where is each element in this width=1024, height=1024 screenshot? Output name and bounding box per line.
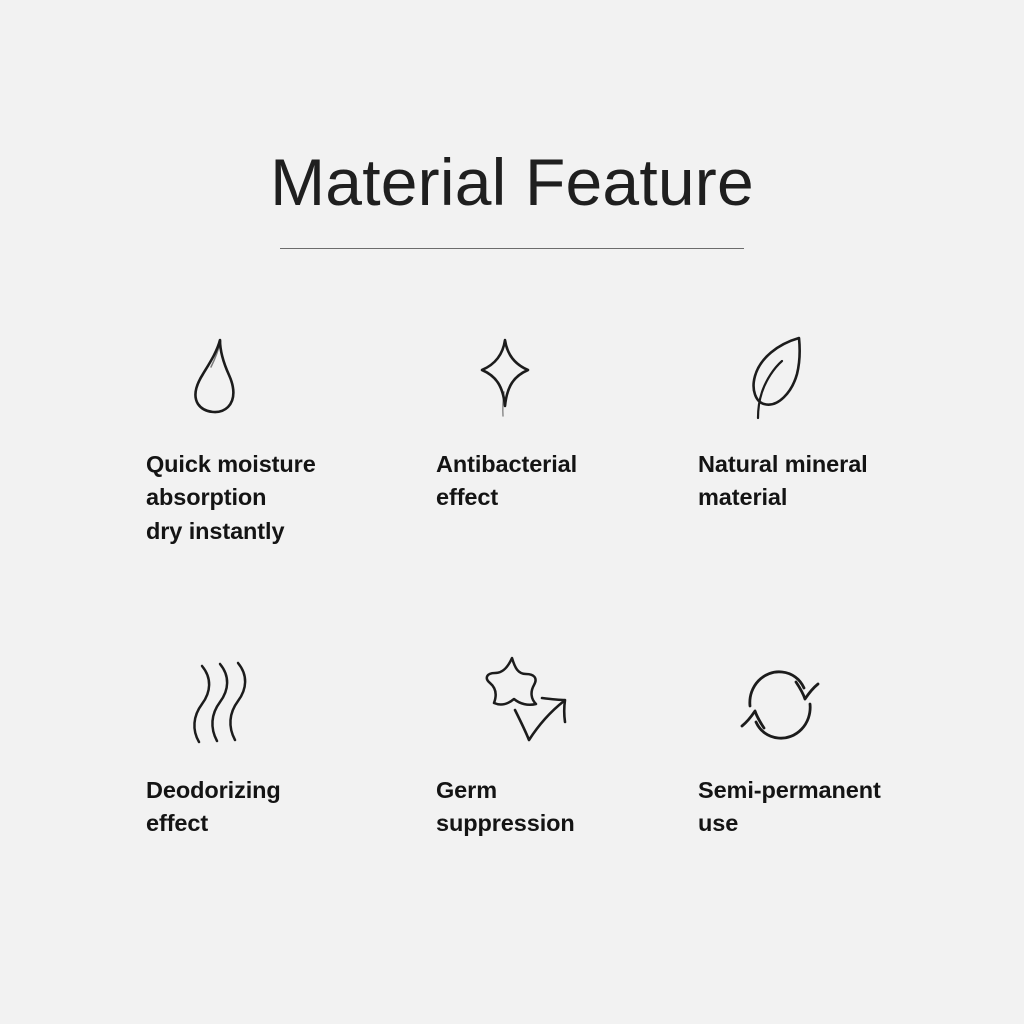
feature-label: Deodorizing effect xyxy=(146,774,436,841)
recycle-circular-arrows-icon xyxy=(698,650,954,750)
material-feature-poster: Material Feature Quick moisture absorpti… xyxy=(0,0,1024,1024)
feature-label: Natural mineral material xyxy=(698,448,954,515)
odor-waves-icon xyxy=(146,650,436,750)
feature-label: Quick moisture absorption dry instantly xyxy=(146,448,436,548)
feature-item-natural-mineral-material: Natural mineral material xyxy=(698,330,954,650)
feature-item-semi-permanent-use: Semi-permanent use xyxy=(698,650,954,841)
feature-label: Antibacterial effect xyxy=(436,448,698,515)
feature-item-antibacterial-effect: Antibacterial effect xyxy=(436,330,698,650)
water-droplet-icon xyxy=(146,330,436,422)
feature-item-germ-suppression: Germ suppression xyxy=(436,650,698,841)
page-title: Material Feature xyxy=(0,148,1024,218)
feature-label: Semi-permanent use xyxy=(698,774,954,841)
feature-grid: Quick moisture absorption dry instantly … xyxy=(146,330,954,841)
feature-item-quick-moisture-absorption: Quick moisture absorption dry instantly xyxy=(146,330,436,650)
poster-header: Material Feature xyxy=(0,148,1024,249)
feature-label: Germ suppression xyxy=(436,774,698,841)
feature-item-deodorizing-effect: Deodorizing effect xyxy=(146,650,436,841)
star-with-rising-arrow-icon xyxy=(436,650,698,750)
leaf-icon xyxy=(698,330,954,422)
sparkle-four-point-star-icon xyxy=(436,330,698,422)
title-divider xyxy=(280,248,744,249)
